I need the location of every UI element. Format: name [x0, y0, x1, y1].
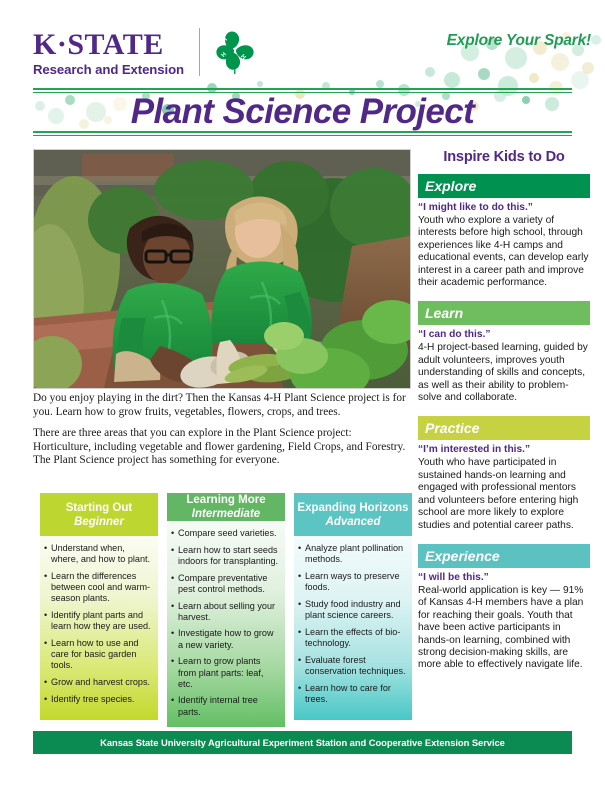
list-item: Identify internal tree parts. — [171, 695, 280, 717]
list-item: Investigate how to grow a new variety. — [171, 628, 280, 650]
level-subtitle: Beginner — [74, 515, 124, 529]
list-item: Learn ways to preserve foods. — [298, 571, 407, 593]
list-item: Analyze plant pollination methods. — [298, 543, 407, 565]
sidebar-section-header-learn: Learn — [418, 301, 590, 325]
four-h-clover-icon: H H H H — [212, 28, 258, 76]
sidebar-title: Inspire Kids to Do — [418, 149, 590, 165]
list-item: Grow and harvest crops. — [44, 677, 153, 688]
splatter-dot — [582, 62, 594, 74]
list-item: Learn the effects of bio-technology. — [298, 627, 407, 649]
level-header-advanced: Expanding Horizons Advanced — [294, 493, 412, 536]
list-item: Learn how to care for trees. — [298, 683, 407, 705]
kstate-subbrand: Research and Extension — [33, 63, 188, 76]
section-label: Explore — [425, 178, 476, 194]
header-rule-bottom-2 — [33, 135, 572, 136]
splatter-dot — [478, 68, 490, 80]
sidebar-section-header-practice: Practice — [418, 416, 590, 440]
list-item: Study food industry and plant science ca… — [298, 599, 407, 621]
list-item: Learn about selling your harvest. — [171, 601, 280, 623]
section-text-learn: 4-H project-based learning, guided by ad… — [418, 342, 590, 404]
list-item: Identify plant parts and learn how they … — [44, 610, 153, 632]
level-title: Learning More — [186, 493, 265, 507]
list-item: Compare preventative pest control method… — [171, 573, 280, 595]
level-title: Starting Out — [66, 501, 132, 515]
list-item: Learn the differences between cool and w… — [44, 571, 153, 605]
tagline: Explore Your Spark! — [447, 32, 591, 50]
logo-divider — [199, 28, 200, 76]
section-text-experience: Real-world application is key — 91% of K… — [418, 585, 590, 672]
list-item: Learn to grow plants from plant parts: l… — [171, 656, 280, 690]
section-text-practice: Youth who have participated in sustained… — [418, 457, 590, 531]
header-rule-top-1 — [33, 88, 572, 90]
level-column-advanced: Expanding Horizons Advanced Analyze plan… — [294, 493, 412, 720]
level-column-intermediate: Learning More Intermediate Compare seed … — [167, 493, 285, 720]
splatter-dot — [571, 71, 589, 89]
splatter-dot — [551, 53, 569, 71]
intro-paragraph-2: There are three areas that you can explo… — [33, 427, 412, 468]
section-quote-practice: “I’m interested in this.” — [418, 444, 590, 456]
list-item: Identify tree species. — [44, 694, 153, 705]
sidebar-section-header-explore: Explore — [418, 174, 590, 198]
level-header-intermediate: Learning More Intermediate — [167, 493, 285, 521]
level-column-beginner: Starting Out Beginner Understand when, w… — [40, 493, 158, 720]
list-item: Understand when, where, and how to plant… — [44, 543, 153, 565]
kstate-wordmark: K·STATE — [33, 30, 188, 60]
splatter-dot — [591, 35, 601, 45]
section-text-explore: Youth who explore a variety of interests… — [418, 215, 590, 289]
section-quote-experience: “I will be this.” — [418, 572, 590, 584]
list-item: Learn how to use and care for basic gard… — [44, 638, 153, 672]
level-subtitle: Advanced — [326, 515, 381, 529]
sidebar-section-header-experience: Experience — [418, 544, 590, 568]
intro-text: Do you enjoy playing in the dirt? Then t… — [33, 392, 412, 476]
splatter-dot — [529, 73, 539, 83]
header-rule-bottom-1 — [33, 131, 572, 133]
list-item: Compare seed varieties. — [171, 528, 280, 539]
section-label: Practice — [425, 420, 479, 436]
intro-paragraph-1: Do you enjoy playing in the dirt? Then t… — [33, 392, 412, 419]
level-list: Understand when, where, and how to plant… — [44, 543, 153, 705]
level-list: Compare seed varieties.Learn how to star… — [171, 528, 280, 718]
sidebar-inspire-kids: Inspire Kids to Do Explore “I might like… — [418, 149, 590, 684]
project-levels: Starting Out Beginner Understand when, w… — [40, 493, 412, 720]
kstate-logo: K·STATE Research and Extension — [33, 30, 188, 76]
splatter-dot — [498, 76, 518, 96]
level-subtitle: Intermediate — [192, 507, 260, 521]
page-title: Plant Science Project — [0, 94, 605, 130]
list-item: Learn how to start seeds indoors for tra… — [171, 545, 280, 567]
page-header: K·STATE Research and Extension H H H H E… — [0, 0, 605, 140]
section-quote-explore: “I might like to do this.” — [418, 202, 590, 214]
splatter-dot — [376, 80, 384, 88]
level-body-beginner: Understand when, where, and how to plant… — [40, 536, 158, 720]
level-list: Analyze plant pollination methods.Learn … — [298, 543, 407, 705]
section-quote-learn: “I can do this.” — [418, 329, 590, 341]
hero-photo — [33, 149, 411, 389]
section-label: Experience — [425, 548, 500, 564]
splatter-dot — [257, 81, 263, 87]
page-footer: Kansas State University Agricultural Exp… — [33, 731, 572, 754]
list-item: Evaluate forest conservation techniques. — [298, 655, 407, 677]
level-title: Expanding Horizons — [297, 501, 408, 515]
section-label: Learn — [425, 305, 463, 321]
level-header-beginner: Starting Out Beginner — [40, 493, 158, 536]
level-body-advanced: Analyze plant pollination methods.Learn … — [294, 536, 412, 720]
splatter-dot — [425, 67, 435, 77]
level-body-intermediate: Compare seed varieties.Learn how to star… — [167, 521, 285, 727]
splatter-dot — [505, 47, 527, 69]
garden-photo-illustration — [34, 150, 410, 388]
splatter-dot — [444, 72, 460, 88]
footer-text: Kansas State University Agricultural Exp… — [100, 737, 505, 748]
